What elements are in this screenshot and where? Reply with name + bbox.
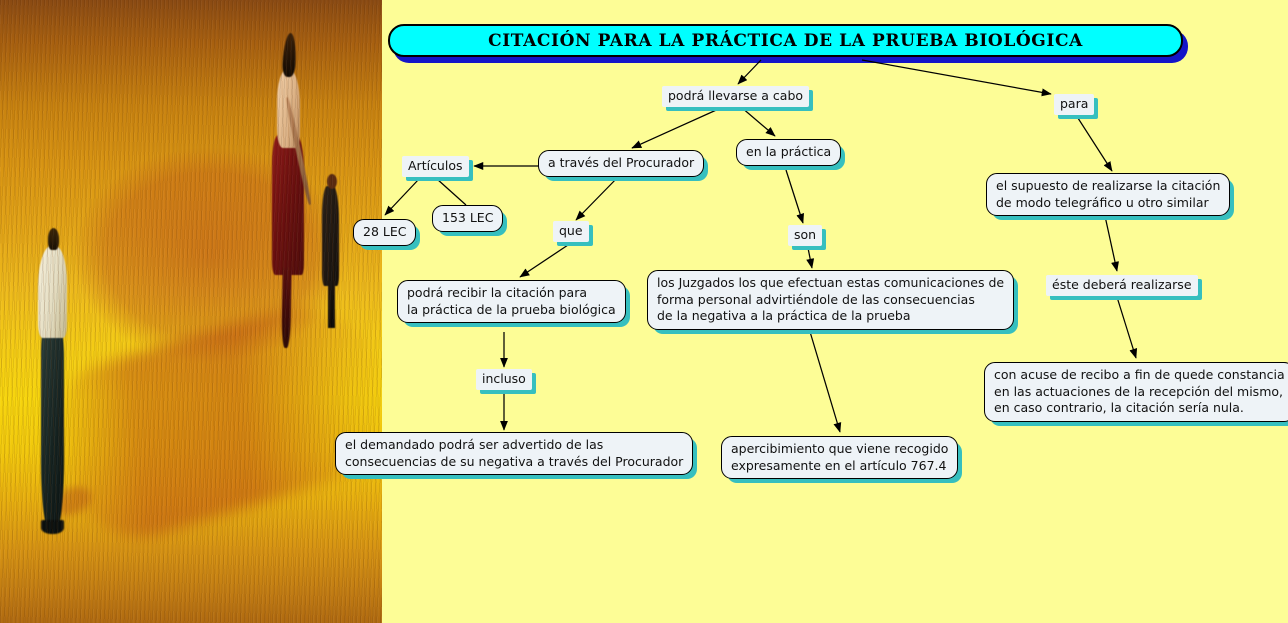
concept-map-canvas: CITACIÓN PARA LA PRÁCTICA DE LA PRUEBA B… bbox=[0, 0, 1288, 623]
map-title-banner: CITACIÓN PARA LA PRÁCTICA DE LA PRUEBA B… bbox=[388, 24, 1183, 57]
edge-root-podra bbox=[738, 60, 761, 84]
figure-child-body bbox=[322, 186, 339, 286]
edge-son-juzgados bbox=[808, 248, 812, 268]
node-incluso[interactable]: incluso bbox=[476, 369, 532, 390]
node-podra-recibir-citacion[interactable]: podrá recibir la citación para la prácti… bbox=[397, 280, 626, 323]
edge-articulos-28lec bbox=[385, 179, 419, 215]
edge-para-supuesto bbox=[1076, 115, 1112, 171]
edge-supuesto-este bbox=[1105, 216, 1117, 271]
edge-practica-son bbox=[786, 170, 803, 223]
node-28-lec[interactable]: 28 LEC bbox=[353, 219, 416, 246]
figure-red-dress-head bbox=[282, 33, 297, 78]
node-son[interactable]: son bbox=[788, 225, 822, 246]
node-supuesto-telegrafico[interactable]: el supuesto de realizarse la citación de… bbox=[986, 173, 1230, 216]
edge-root-para bbox=[862, 60, 1051, 94]
edge-juzgados-apercibimiento bbox=[808, 325, 840, 432]
figure-white-robe-upper bbox=[38, 246, 67, 338]
edge-que-podrarecibir bbox=[520, 245, 568, 277]
edge-atraves-que bbox=[576, 175, 620, 220]
figure-child-head bbox=[327, 174, 337, 189]
illustration-panel bbox=[0, 0, 382, 623]
node-a-traves-del-procurador[interactable]: a través del Procurador bbox=[538, 150, 704, 177]
figure-child-leg bbox=[328, 278, 335, 328]
node-en-la-practica[interactable]: en la práctica bbox=[736, 139, 841, 166]
node-este-debera-realizarse[interactable]: éste deberá realizarse bbox=[1046, 275, 1198, 296]
edge-articulos-153lec bbox=[437, 179, 466, 205]
figure-white-robe-head bbox=[48, 228, 59, 250]
node-que[interactable]: que bbox=[553, 221, 589, 242]
node-demandado-advertido[interactable]: el demandado podrá ser advertido de las … bbox=[335, 432, 693, 475]
figure-white-robe-lower bbox=[41, 330, 64, 530]
node-acuse-de-recibo[interactable]: con acuse de recibo a fin de quede const… bbox=[984, 362, 1288, 422]
edge-este-acuse bbox=[1117, 297, 1136, 358]
page-title: CITACIÓN PARA LA PRÁCTICA DE LA PRUEBA B… bbox=[488, 31, 1083, 51]
node-apercibimiento-767-4[interactable]: apercibimiento que viene recogido expres… bbox=[721, 436, 958, 479]
node-153-lec[interactable]: 153 LEC bbox=[432, 205, 503, 232]
node-articulos[interactable]: Artículos bbox=[402, 156, 469, 177]
edge-podra-atraves bbox=[632, 107, 723, 148]
node-podra-llevarse-a-cabo[interactable]: podrá llevarse a cabo bbox=[662, 86, 809, 107]
figure-white-robe-foot bbox=[41, 520, 64, 534]
node-juzgados-comunicaciones[interactable]: los Juzgados los que efectuan estas comu… bbox=[647, 270, 1014, 330]
edge-podra-practica bbox=[741, 107, 775, 136]
node-para[interactable]: para bbox=[1054, 94, 1094, 115]
